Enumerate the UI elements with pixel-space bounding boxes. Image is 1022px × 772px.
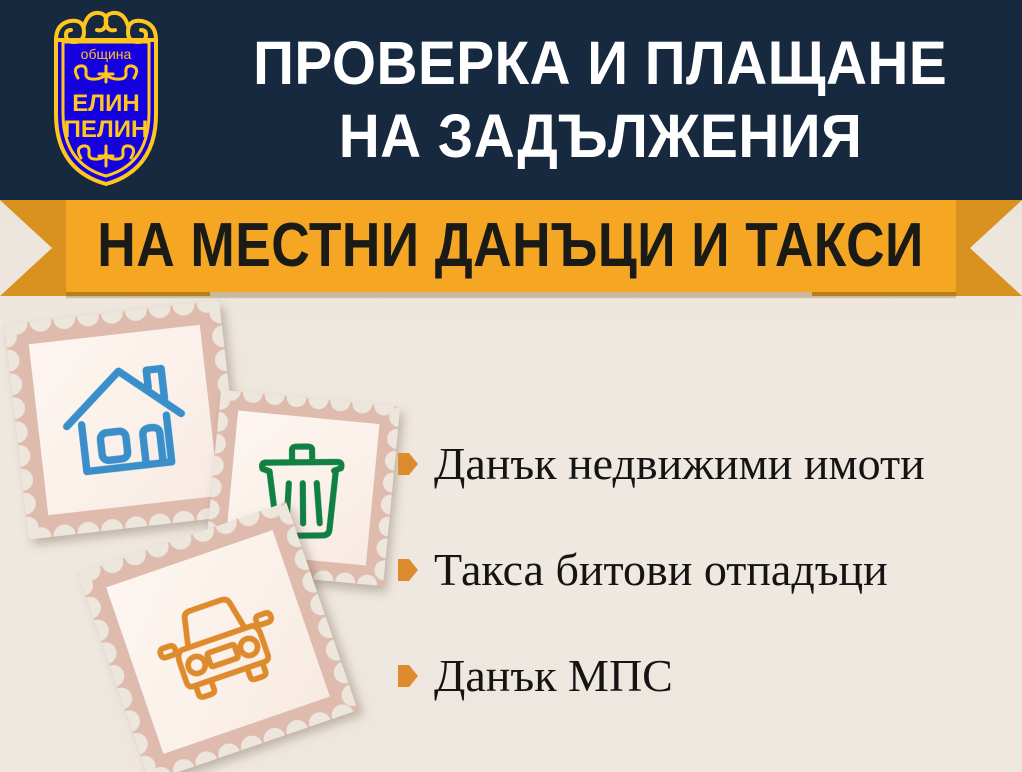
crest-text-line1: ЕЛИН: [72, 90, 139, 117]
car-icon: [142, 572, 293, 712]
crest-text-top: община: [81, 46, 132, 62]
bullet-arrow-icon: [398, 665, 418, 687]
crest-svg: община ЕЛИН ПЕЛИН: [26, 6, 186, 191]
list-item-label: Данък недвижими имоти: [434, 441, 925, 487]
stamp-paper-property: [29, 325, 219, 515]
stamp-paper-vehicle: [106, 530, 330, 754]
list-item-label: Такса битови отпадъци: [434, 547, 888, 593]
header-bar: община ЕЛИН ПЕЛИН: [0, 0, 1022, 200]
tax-type-list: Данък недвижими имоти Такса битови отпад…: [398, 424, 1013, 742]
bullet-arrow-icon: [398, 559, 418, 581]
poster-canvas: община ЕЛИН ПЕЛИН: [0, 0, 1022, 772]
house-icon: [54, 353, 195, 487]
list-item[interactable]: Такса битови отпадъци: [398, 530, 1013, 610]
ribbon-label: НА МЕСТНИ ДАНЪЦИ И ТАКСИ: [98, 215, 925, 277]
bullet-arrow-icon: [398, 453, 418, 475]
municipality-crest-logo: община ЕЛИН ПЕЛИН: [26, 6, 186, 191]
poster-title: ПРОВЕРКА И ПЛАЩАНЕ НА ЗАДЪЛЖЕНИЯ: [190, 14, 1010, 186]
list-item[interactable]: Данък МПС: [398, 636, 1013, 716]
title-line-1: ПРОВЕРКА И ПЛАЩАНЕ: [253, 33, 947, 94]
list-item-label: Данък МПС: [434, 653, 673, 699]
ribbon-band: НА МЕСТНИ ДАНЪЦИ И ТАКСИ: [66, 200, 956, 292]
title-line-2: НА ЗАДЪЛЖЕНИЯ: [338, 106, 862, 167]
crest-text-line2: ПЕЛИН: [64, 116, 149, 143]
list-item[interactable]: Данък недвижими имоти: [398, 424, 1013, 504]
stamp-card-property: [4, 300, 243, 539]
